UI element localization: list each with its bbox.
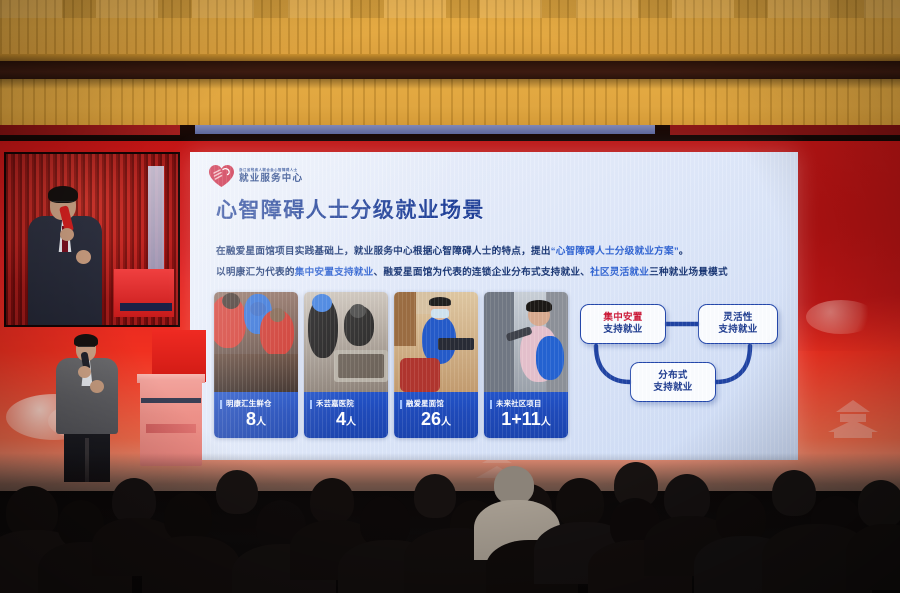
ceiling-lip [0, 54, 900, 61]
ceiling-lower-shadow [0, 79, 900, 89]
card-label-band: 明康汇生鲜仓 8人 [214, 392, 298, 438]
audience-shoulder [142, 536, 240, 593]
card-count: 8人 [214, 409, 298, 430]
diagram-box-distributed: 分布式 支持就业 [630, 362, 716, 402]
led-podium-bar [120, 303, 172, 311]
soffit-red-left [0, 125, 180, 135]
audience-head [772, 470, 816, 516]
card-label-band: 融爱星面馆 26人 [394, 392, 478, 438]
audience-head [164, 492, 212, 542]
body-l1-part-c: 。 [679, 246, 689, 257]
card-photo-weilai [484, 292, 568, 392]
audience-head [310, 478, 354, 524]
body-l2-part-c: 、融爱星面馆为代表的连锁企业分布式支持就业、 [374, 267, 591, 278]
card-photo-mingkanghui [214, 292, 298, 392]
employment-model-diagram: 集中安置 支持就业 灵活性 支持就业 分布式 支持就业 [578, 300, 783, 412]
ceiling-panel-blocks [0, 0, 900, 18]
slide-body-line-1: 在融爱星面馆项目实践基础上，就业服务中心根据心智障碍人士的特点，提出“心智障碍人… [216, 243, 689, 257]
soffit-red-right [670, 125, 900, 135]
card-name: 未来社区项目 [496, 398, 565, 409]
speaker-hand-left [78, 366, 91, 378]
card-name: 融爱星面馆 [406, 398, 475, 409]
card-count: 1+11人 [484, 409, 568, 430]
logo-title: 就业服务中心 [239, 173, 303, 184]
slide-title: 心智障碍人士分级就业场景 [216, 194, 485, 224]
card-name: 明康汇生鲜仓 [226, 398, 295, 409]
scene-card: 禾芸嘉医院 4人 [304, 292, 388, 438]
diagram-box-centralized: 集中安置 支持就业 [580, 304, 666, 344]
logo-subtitle: 浙江省残疾人联合会心智障碍人士 [239, 168, 303, 173]
presentation-slide: 浙江省残疾人联合会心智障碍人士 就业服务中心 心智障碍人士分级就业场景 在融爱星… [190, 152, 798, 460]
card-label-band: 禾芸嘉医院 4人 [304, 392, 388, 438]
diagram-box-1-line-2: 支持就业 [603, 324, 642, 336]
podium-logo [146, 424, 196, 433]
scene-card: 融爱星面馆 26人 [394, 292, 478, 438]
card-label-band: 未来社区项目 1+11人 [484, 392, 568, 438]
speaker-closeup-hand-2 [76, 250, 91, 264]
scene-card: 未来社区项目 1+11人 [484, 292, 568, 438]
body-l2-part-a: 以明康汇为代表的 [216, 267, 295, 278]
audience-head-grey [494, 466, 534, 504]
diagram-box-2-line-2: 支持就业 [718, 324, 757, 336]
card-name: 禾芸嘉医院 [316, 398, 385, 409]
diagram-box-3-line-1: 分布式 [658, 370, 687, 382]
soffit-blue-strip [195, 125, 655, 134]
scene-card: 明康汇生鲜仓 8人 [214, 292, 298, 438]
card-count: 4人 [304, 409, 388, 430]
audience-head [556, 478, 604, 528]
employment-scene-cards: 明康汇生鲜仓 8人 禾芸嘉医院 4人 [214, 292, 568, 438]
diagram-box-2-line-1: 灵活性 [723, 312, 752, 324]
card-photo-rongaixing [394, 292, 478, 392]
organization-logo: 浙江省残疾人联合会心智障碍人士 就业服务中心 [208, 164, 303, 188]
audience-head [414, 474, 456, 518]
diagram-box-3-line-2: 支持就业 [653, 382, 692, 394]
diagram-box-1-line-1: 集中安置 [603, 312, 642, 324]
body-l2-highlight-1: 集中安置支持就业 [295, 267, 374, 278]
body-l2-part-e: 三种就业场景模式 [649, 267, 728, 278]
ceiling-lower [0, 79, 900, 125]
body-l2-highlight-2: 社区灵活就业 [590, 267, 649, 278]
ceiling-upper [0, 0, 900, 60]
body-l1-highlight: “心智障碍人士分级就业方案” [551, 246, 679, 257]
speaker-hand-right [90, 380, 104, 393]
cloud-motif-right [806, 300, 876, 334]
audience-head [664, 474, 710, 522]
ceiling-shadow-band [0, 61, 900, 79]
card-count: 26人 [394, 409, 478, 430]
audience-shoulder [846, 524, 900, 590]
audience-head [216, 470, 258, 514]
speaker-closeup-hand [60, 228, 74, 241]
podium-accent-bar [141, 398, 201, 403]
audience-head [858, 480, 900, 528]
heart-hands-icon [208, 164, 235, 188]
speaker-glasses-icon [78, 346, 95, 350]
led-screen-speaker-feed [4, 152, 180, 327]
conference-photo: 浙江省残疾人联合会心智障碍人士 就业服务中心 心智障碍人士分级就业场景 在融爱星… [0, 0, 900, 593]
pagoda-motif-right [818, 398, 888, 438]
slide-body-line-2: 以明康汇为代表的集中安置支持就业、融爱星面馆为代表的连锁企业分布式支持就业、社区… [216, 264, 728, 278]
body-l1-part-a: 在融爱星面馆项目实践基础上，就业服务中心根据心智障碍人士的特点，提出 [216, 246, 551, 257]
diagram-box-flexible: 灵活性 支持就业 [698, 304, 778, 344]
card-photo-heyunjia [304, 292, 388, 392]
